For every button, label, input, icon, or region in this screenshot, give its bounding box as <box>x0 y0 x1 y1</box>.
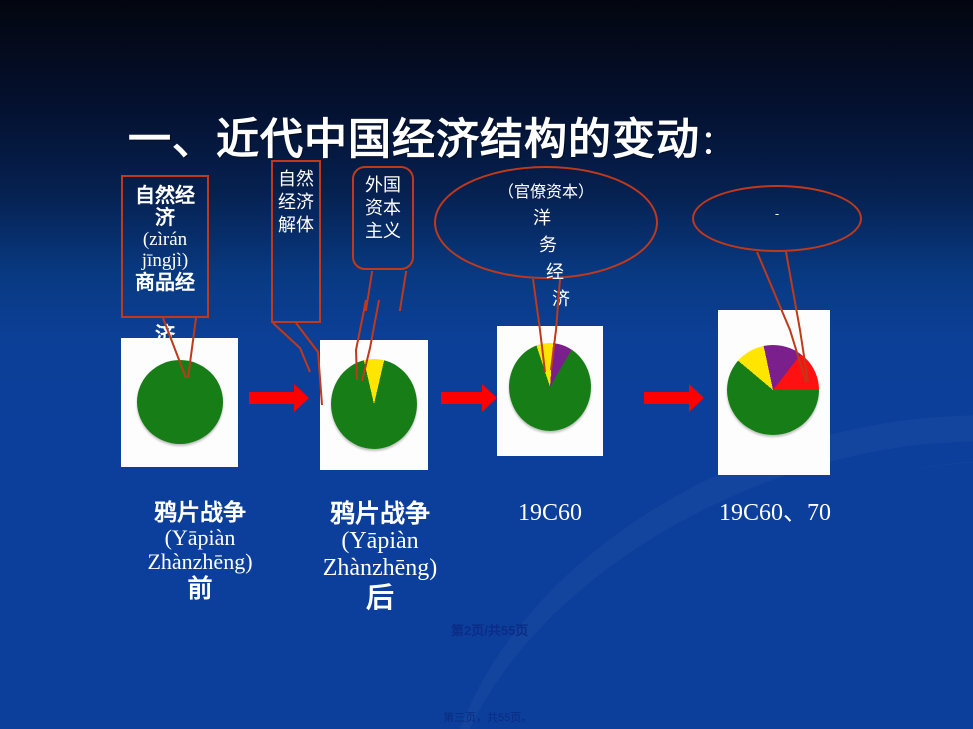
callout-mid2-line-3: 主义 <box>354 220 412 243</box>
page-title-text: 一、近代中国经济结构的变动 <box>128 116 700 164</box>
stage-label-2-py1: (Yāpiàn <box>292 528 468 555</box>
callout-natural-economy-disintegration: 自然 经济 解体 <box>271 160 321 323</box>
oval-char-4: 济 <box>552 285 570 311</box>
page-title: 一、近代中国经济结构的变动： <box>128 105 735 167</box>
oval-char-2: 务 <box>539 231 557 257</box>
stage-label-2-cn: 鸦片战争 <box>292 500 468 528</box>
arrow-stage-3-to-4 <box>644 392 690 404</box>
arrow-stage-2-to-3 <box>441 392 483 404</box>
pie-chart-3 <box>509 343 591 431</box>
page-number: 第2页/共55页 <box>451 620 528 639</box>
slide-footer: 第三页，共55页。 <box>443 709 532 725</box>
callout-line-5: 商品经 <box>123 272 207 294</box>
callout-line-4: jīngjì) <box>123 250 207 271</box>
callout-mid1-line-1: 自然 <box>273 168 319 191</box>
callout-mid1-line-3: 解体 <box>273 214 319 237</box>
arrow-stage-1-to-2 <box>249 392 295 404</box>
stage-label-1-py1: (Yāpiàn <box>110 526 290 551</box>
chart-frame-2 <box>320 340 428 470</box>
chart-frame-4 <box>718 310 830 475</box>
callout-foreign-capitalism: 外国 资本 主义 <box>352 166 414 270</box>
stage-label-2-tail: 后 <box>292 582 468 613</box>
pie-chart-4 <box>727 345 819 435</box>
stage-label-1-py2: Zhànzhēng) <box>110 550 290 575</box>
callout-natural-economy: 自然经 济 (zìrán jīngjì) 商品经 <box>121 175 209 318</box>
callout-oval-empty: - <box>692 185 862 252</box>
callout-line-3: (zìrán <box>123 229 207 250</box>
stage-label-1-tail: 前 <box>110 575 290 603</box>
stage-label-1: 鸦片战争 (Yāpiàn Zhànzhēng) 前 <box>110 500 290 603</box>
page-title-colon: ： <box>700 124 735 162</box>
pie-chart-2 <box>331 359 417 449</box>
callout-mid2-tail <box>365 271 407 311</box>
callout-oval-yangwu-economy: （官僚资本） 洋 务 经 济 <box>434 166 658 279</box>
stage-label-2: 鸦片战争 (Yāpiàn Zhànzhēng) 后 <box>292 500 468 613</box>
oval-empty-mark: - <box>775 207 779 220</box>
stage-label-1-cn: 鸦片战争 <box>110 500 290 526</box>
oval-char-3: 经 <box>546 258 564 284</box>
callout-mid2-line-1: 外国 <box>354 174 412 197</box>
pie-chart-1 <box>137 360 223 444</box>
chart-frame-1 <box>121 338 238 467</box>
chart-frame-3 <box>497 326 603 456</box>
stage-label-2-py2: Zhànzhēng) <box>292 555 468 582</box>
stage-label-4: 19C60、70 <box>690 500 860 527</box>
stage-label-3: 19C60 <box>495 500 605 527</box>
callout-line-1: 自然经 <box>123 185 207 207</box>
callout-mid2-line-2: 资本 <box>354 197 412 220</box>
oval-header: （官僚资本） <box>436 178 656 202</box>
slide-canvas: 一、近代中国经济结构的变动： 自然经 济 (zìrán jīngjì) 商品经 … <box>0 0 973 729</box>
oval-char-1: 洋 <box>533 204 551 230</box>
callout-mid1-line-2: 经济 <box>273 191 319 214</box>
callout-line-2: 济 <box>123 207 207 229</box>
